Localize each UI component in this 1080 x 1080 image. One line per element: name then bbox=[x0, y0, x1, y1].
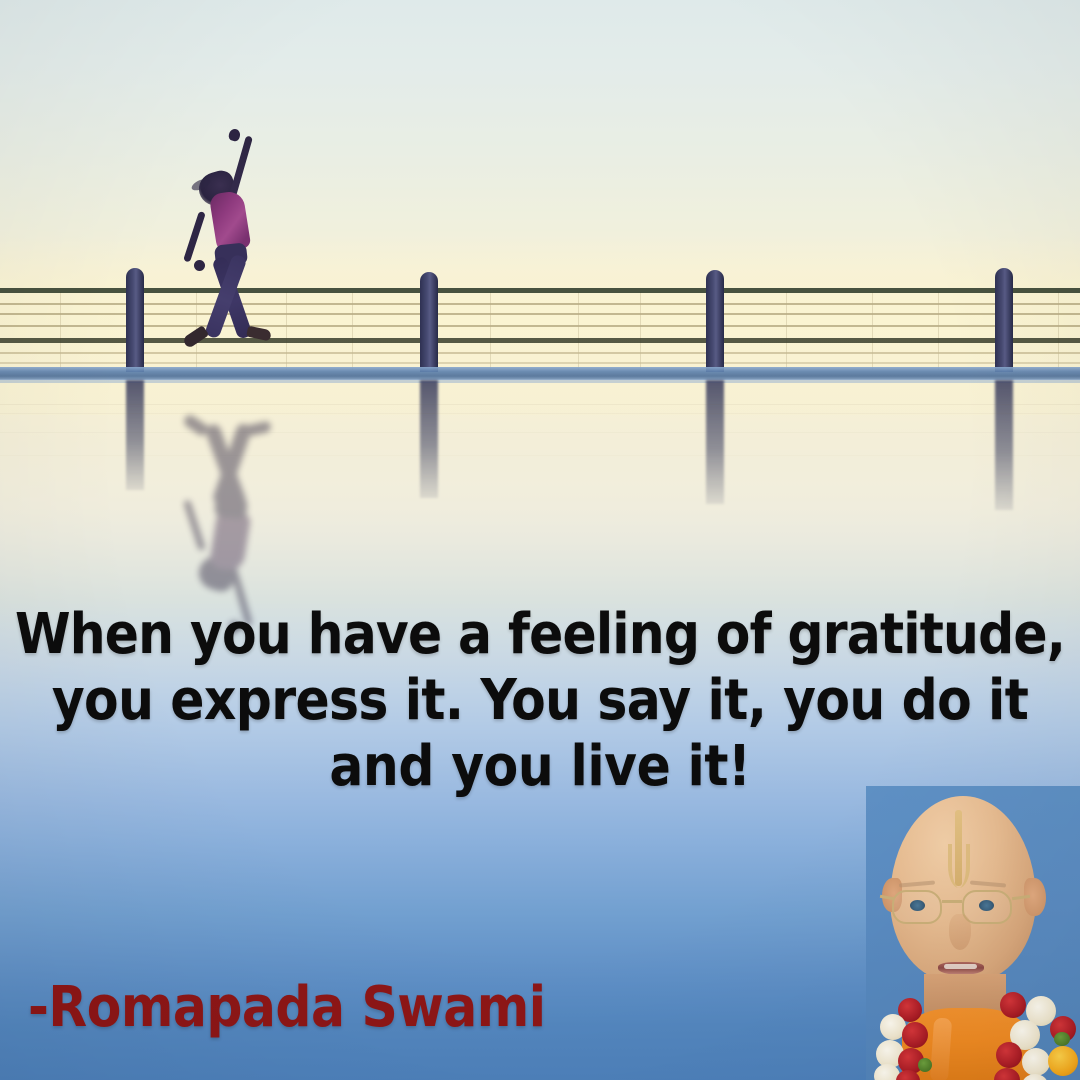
railing-cable bbox=[0, 313, 1080, 315]
post-reflection bbox=[706, 380, 724, 504]
figure-front-shoe bbox=[246, 326, 272, 342]
railing-cable bbox=[0, 352, 1080, 354]
water-ripple bbox=[0, 404, 1080, 405]
quote-line-2: you express it. You say it, you do it bbox=[0, 668, 1080, 734]
quote-text-block: When you have a feeling of gratitude, yo… bbox=[0, 602, 1080, 800]
railing-post bbox=[995, 268, 1013, 372]
garland-leaf bbox=[1054, 1032, 1070, 1046]
figure-raised-hand bbox=[228, 128, 242, 142]
railing-top-rail bbox=[0, 288, 1080, 293]
eyeglasses-bridge bbox=[942, 900, 962, 903]
garland-flower bbox=[1048, 1046, 1078, 1076]
tilaka-mark-v bbox=[948, 844, 970, 888]
eyeglasses-lens-left bbox=[892, 890, 942, 924]
railing-cable bbox=[0, 362, 1080, 364]
figure-back-shoe bbox=[182, 325, 209, 349]
railing-post bbox=[126, 268, 144, 372]
waterline-highlight bbox=[0, 379, 1080, 383]
railing-cable bbox=[0, 303, 1080, 305]
quote-poster: When you have a feeling of gratitude, yo… bbox=[0, 0, 1080, 1080]
water-ripple bbox=[0, 413, 1080, 414]
portrait-nose bbox=[949, 914, 971, 950]
post-reflection bbox=[126, 380, 144, 490]
garland-flower bbox=[994, 1068, 1020, 1080]
romapada-swami-portrait bbox=[866, 786, 1080, 1080]
garland-leaf bbox=[918, 1058, 932, 1072]
reflection-shoe2 bbox=[246, 421, 272, 437]
flower-garland-left bbox=[872, 992, 954, 1080]
photo-scene bbox=[0, 0, 1080, 640]
railing-bottom-rail bbox=[0, 338, 1080, 343]
quote-line-1: When you have a feeling of gratitude, bbox=[0, 602, 1080, 668]
garland-flower bbox=[1022, 1048, 1050, 1076]
figure-torso bbox=[209, 190, 252, 253]
railing-cable bbox=[0, 325, 1080, 327]
garland-flower bbox=[902, 1022, 928, 1048]
post-reflection bbox=[420, 380, 438, 498]
figure-lowered-arm bbox=[183, 211, 206, 263]
garland-flower bbox=[1022, 1074, 1048, 1080]
figure-raised-arm bbox=[229, 135, 253, 197]
quote-attribution: -Romapada Swami bbox=[28, 975, 546, 1040]
railing-post bbox=[420, 272, 438, 372]
water-ripple bbox=[0, 432, 1080, 433]
reflection-arm2 bbox=[183, 499, 206, 551]
walking-woman-figure bbox=[185, 128, 315, 368]
portrait-teeth bbox=[944, 964, 977, 969]
post-reflection bbox=[995, 380, 1013, 510]
reflection-torso bbox=[209, 510, 252, 573]
water-ripple bbox=[0, 455, 1080, 456]
flower-garland-right bbox=[992, 992, 1080, 1080]
garland-flower bbox=[1000, 992, 1026, 1018]
garland-flower bbox=[996, 1042, 1022, 1068]
figure-water-reflection bbox=[185, 384, 315, 634]
eyeglasses-lens-right bbox=[962, 890, 1012, 924]
figure-lowered-hand bbox=[194, 260, 205, 271]
railing-post bbox=[706, 270, 724, 372]
